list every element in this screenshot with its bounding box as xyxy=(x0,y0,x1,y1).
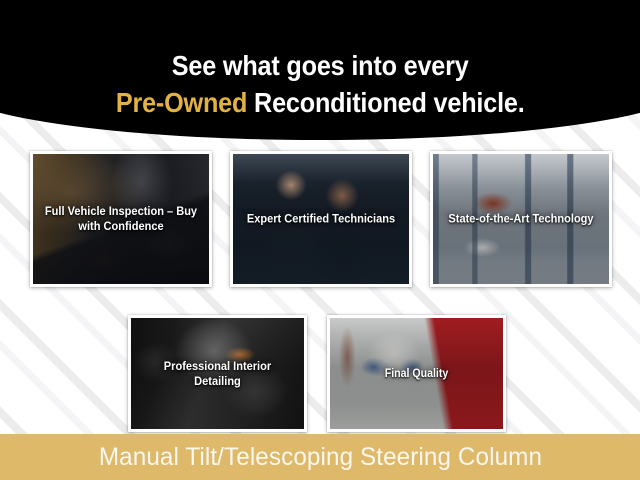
card-image-wrapper: Full Vehicle Inspection – Buy with Confi… xyxy=(33,154,209,284)
feature-banner-text: Manual Tilt/Telescoping Steering Column xyxy=(98,443,541,472)
promo-graphic: See what goes into every Pre-Owned Recon… xyxy=(0,0,640,480)
card-image-wrapper: Expert Certified Technicians xyxy=(233,154,409,284)
feature-card-final-quality[interactable]: Final Quality xyxy=(327,315,506,432)
headline-line-1: See what goes into every xyxy=(0,48,640,85)
card-image-wrapper: State-of-the-Art Technology xyxy=(433,154,609,284)
feature-card-caption: Full Vehicle Inspection – Buy with Confi… xyxy=(44,204,199,234)
feature-card-caption: Final Quality xyxy=(341,366,493,380)
feature-card-state-of-the-art-technology[interactable]: State-of-the-Art Technology xyxy=(430,151,612,287)
page-title: See what goes into every Pre-Owned Recon… xyxy=(0,48,640,122)
feature-banner: Manual Tilt/Telescoping Steering Column xyxy=(0,434,640,480)
headline-rest: Reconditioned vehicle. xyxy=(247,87,524,118)
feature-card-professional-interior-detailing[interactable]: Professional Interior Detailing xyxy=(128,315,307,432)
headline-highlight: Pre-Owned xyxy=(116,87,247,118)
header-banner: See what goes into every Pre-Owned Recon… xyxy=(0,0,640,140)
feature-card-expert-certified-technicians[interactable]: Expert Certified Technicians xyxy=(230,151,412,287)
headline-line-2: Pre-Owned Reconditioned vehicle. xyxy=(0,85,640,122)
card-image-wrapper: Professional Interior Detailing xyxy=(131,318,304,429)
feature-card-full-vehicle-inspection[interactable]: Full Vehicle Inspection – Buy with Confi… xyxy=(30,151,212,287)
feature-card-caption: State-of-the-Art Technology xyxy=(444,212,599,227)
feature-card-caption: Professional Interior Detailing xyxy=(142,359,294,389)
feature-card-caption: Expert Certified Technicians xyxy=(244,212,399,227)
card-image-wrapper: Final Quality xyxy=(330,318,503,429)
